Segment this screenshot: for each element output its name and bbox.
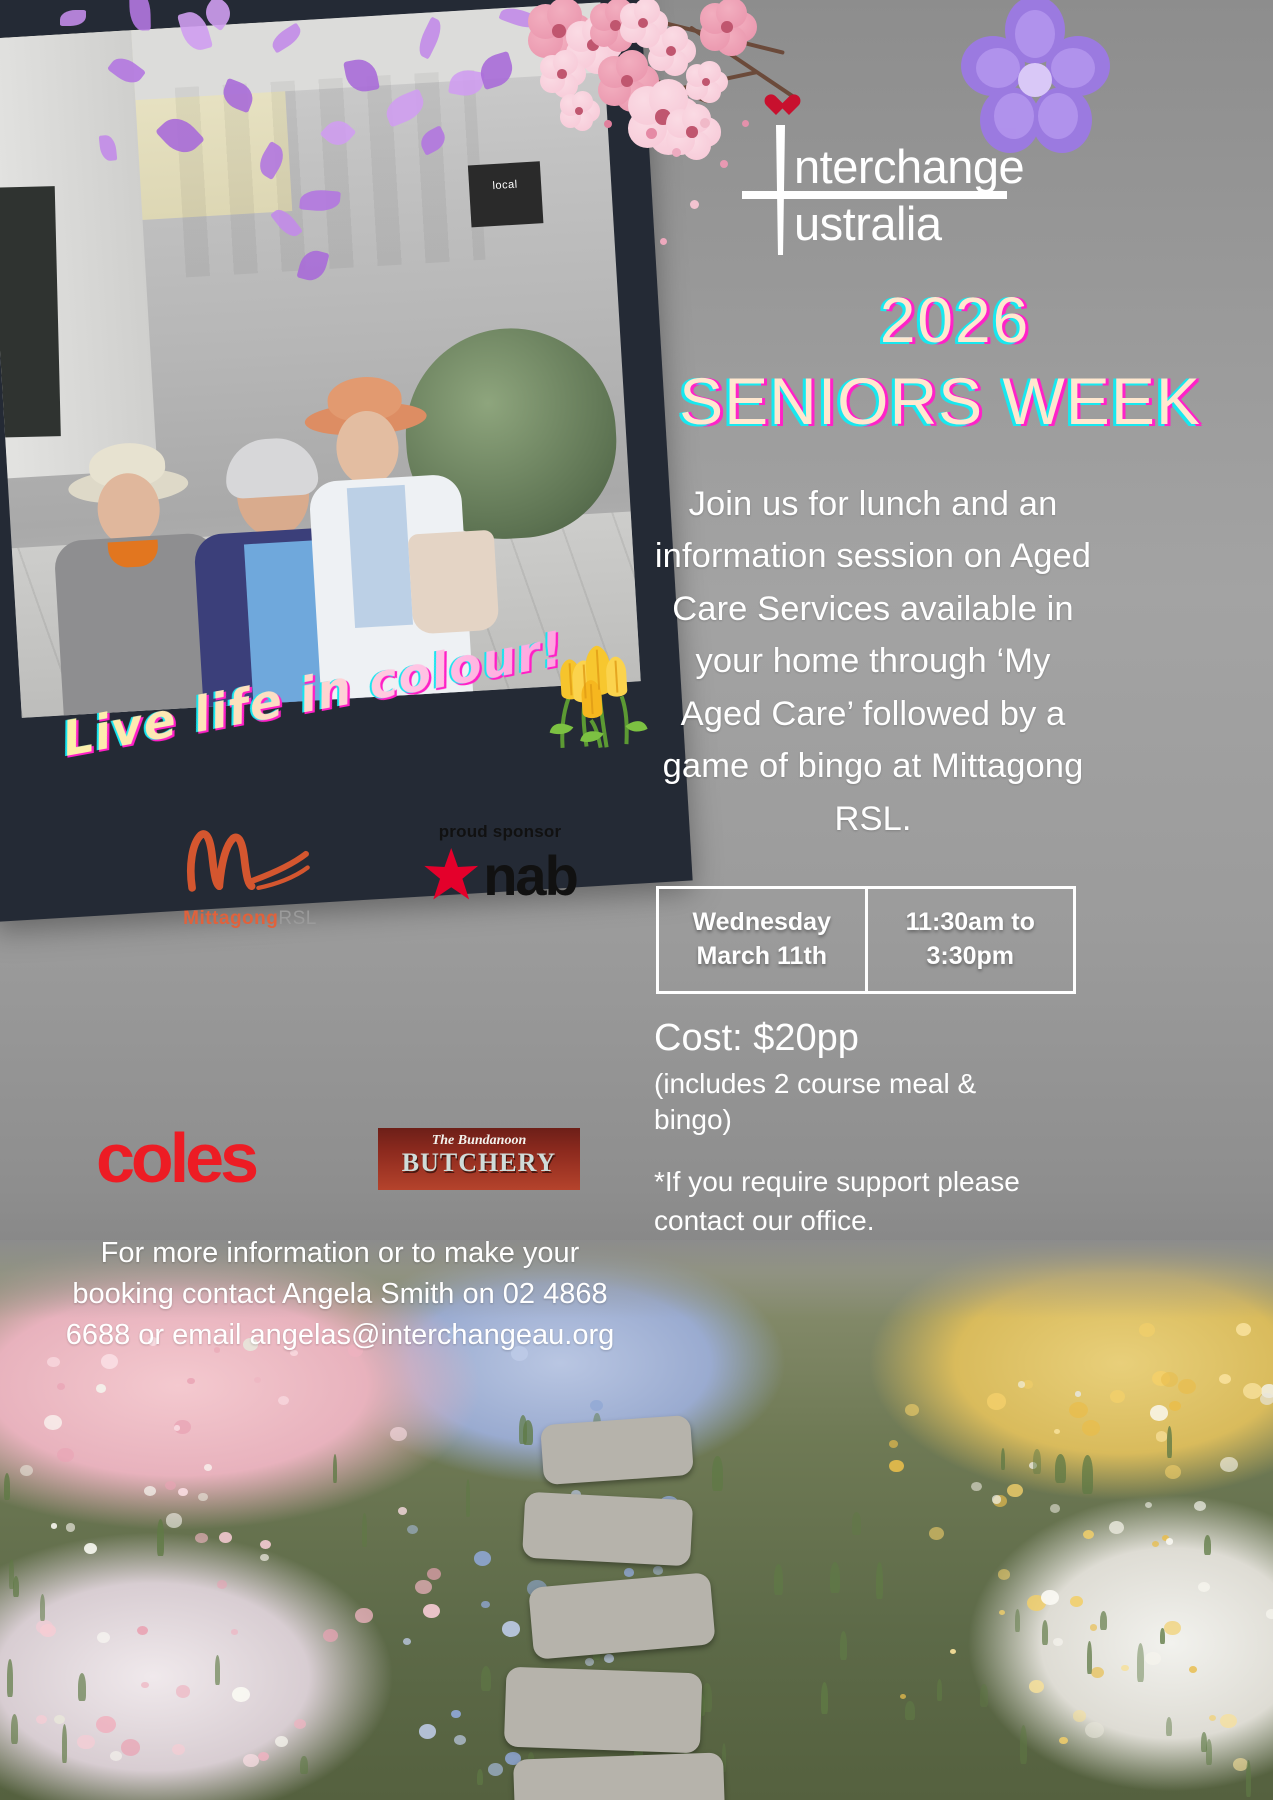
garden-bloom [481, 1666, 491, 1691]
garden-bloom [950, 1649, 956, 1654]
garden-bloom [172, 1744, 185, 1755]
garden-bloom [51, 1523, 57, 1528]
blossom-bud-icon [700, 118, 710, 128]
garden-bloom [96, 1716, 116, 1733]
garden-bloom [1087, 1641, 1092, 1674]
garden-bloom [157, 1519, 164, 1555]
blossom-centre [666, 46, 676, 56]
garden-bloom [165, 1481, 176, 1491]
garden-bloom [1029, 1680, 1044, 1692]
date-cell: Wednesday March 11th [659, 889, 865, 991]
event-description: Join us for lunch and an information ses… [652, 478, 1094, 845]
garden-bloom [254, 1377, 261, 1383]
garden-bloom [1164, 1621, 1181, 1636]
path-slab [540, 1415, 694, 1485]
garden-bloom [47, 1357, 59, 1368]
blossom-bud-icon [690, 200, 699, 209]
garden-bloom [1055, 1454, 1066, 1483]
garden-bloom [905, 1404, 919, 1416]
garden-bloom [1042, 1620, 1048, 1645]
garden-bloom [62, 1724, 67, 1763]
local-shop-sign: local [468, 161, 544, 227]
garden-bloom [992, 1495, 1001, 1503]
garden-bloom [1085, 1722, 1104, 1738]
garden-bloom [937, 1679, 943, 1702]
garden-bloom [1110, 1390, 1125, 1403]
garden-bloom [466, 1479, 470, 1517]
garden-bloom [998, 1569, 1011, 1580]
cherry-blossom-icon [560, 92, 598, 130]
cherry-blossom-icon [700, 0, 754, 54]
rsl-word-light: RSL [278, 908, 316, 929]
garden-bloom [1209, 1715, 1216, 1721]
blossom-bud-icon [604, 120, 612, 128]
garden-bloom [44, 1415, 62, 1430]
garden-bloom [451, 1710, 461, 1718]
garden-bloom [1160, 1628, 1165, 1645]
garden-bloom [323, 1629, 338, 1642]
garden-bloom [78, 1673, 86, 1701]
garden-bloom [1054, 1429, 1060, 1434]
garden-bloom [477, 1769, 483, 1786]
garden-bloom [1018, 1381, 1025, 1387]
garden-bloom [929, 1527, 945, 1540]
garden-bloom [1219, 1374, 1231, 1385]
nab-star-icon [423, 848, 479, 904]
garden-bloom [176, 1685, 190, 1697]
poster-canvas: local [0, 0, 1273, 1800]
path-slab [522, 1492, 693, 1567]
sponsor-bundanoon-butchery: The Bundanoon BUTCHERY [378, 1128, 580, 1190]
sponsor-nab: proud sponsor nab [400, 822, 600, 922]
garden-bloom [987, 1393, 1006, 1410]
garden-bloom [1206, 1739, 1212, 1765]
garden-bloom [300, 1756, 308, 1774]
garden-bloom [1137, 1643, 1144, 1682]
heart-icon [770, 95, 796, 119]
logo-line-2: ustralia [794, 200, 942, 247]
garden-bloom [900, 1694, 906, 1699]
garden-bloom [821, 1682, 828, 1714]
garden-bloom [419, 1724, 437, 1739]
sponsor-coles: coles [96, 1123, 255, 1193]
nab-wordmark: nab [483, 851, 577, 901]
garden-bloom [204, 1464, 212, 1471]
blossom-bud-icon [672, 148, 681, 157]
garden-bloom [1075, 1391, 1081, 1396]
garden-bloom [415, 1580, 432, 1594]
garden-bloom [362, 1513, 367, 1547]
blossom-centre [721, 21, 733, 33]
blossom-bud-icon [742, 120, 749, 127]
garden-bloom [1100, 1611, 1107, 1630]
blossom-bud-icon [660, 238, 667, 245]
garden-bloom [1020, 1725, 1027, 1764]
seniors-photo: local [0, 2, 641, 718]
garden-bloom [121, 1739, 141, 1756]
garden-bloom [1189, 1666, 1197, 1673]
garden-bloom [398, 1507, 407, 1515]
garden-bloom [427, 1568, 441, 1580]
garden-bloom [889, 1460, 903, 1472]
garden-bloom [852, 1512, 861, 1534]
blossom-centre [686, 126, 697, 137]
garden-bloom [57, 1448, 74, 1462]
date-line-2: March 11th [696, 940, 827, 974]
garden-bloom [84, 1543, 97, 1554]
garden-bloom [1266, 1609, 1273, 1619]
garden-bloom [1156, 1431, 1168, 1441]
garden-bloom [1083, 1530, 1094, 1539]
garden-bloom [1139, 1323, 1155, 1337]
garden-bloom [1165, 1465, 1181, 1479]
garden-bloom [178, 1488, 188, 1496]
hair [224, 436, 319, 499]
garden-bloom [258, 1752, 269, 1761]
garden-bloom [1204, 1535, 1211, 1555]
garden-bloom [1091, 1667, 1104, 1678]
garden-bloom [1243, 1383, 1262, 1399]
garden-bloom [1166, 1717, 1172, 1736]
garden-bloom [166, 1513, 183, 1527]
garden-bloom [4, 1473, 10, 1500]
garden-bloom [40, 1624, 55, 1637]
garden-bloom [1161, 1372, 1178, 1387]
chalkboard-sign [0, 186, 61, 437]
blossom-centre [557, 69, 567, 79]
garden-bloom [54, 1715, 65, 1725]
garden-bloom [231, 1629, 238, 1635]
stone-path [491, 1330, 731, 1800]
garden-bloom [1152, 1541, 1159, 1547]
garden-bloom [333, 1454, 337, 1484]
garden-bloom [40, 1594, 46, 1622]
garden-bloom [889, 1440, 898, 1448]
garden-bloom [275, 1736, 288, 1747]
garden-bloom [423, 1604, 440, 1619]
butchery-wordmark: BUTCHERY [378, 1148, 580, 1178]
garden-bloom [1150, 1405, 1168, 1420]
garden-bloom [1145, 1652, 1161, 1665]
garden-bloom [260, 1554, 269, 1562]
garden-bloom [1053, 1638, 1063, 1646]
garden-bloom [219, 1532, 232, 1543]
cherry-blossom-icon [540, 52, 584, 96]
garden-bloom [1082, 1455, 1093, 1493]
handbag [408, 530, 500, 635]
nab-lockup: nab [400, 848, 600, 904]
garden-bloom [355, 1608, 372, 1623]
garden-bloom [876, 1562, 883, 1599]
garden-bloom [1001, 1448, 1005, 1470]
garden-bloom [1069, 1402, 1088, 1418]
date-line-1: Wednesday [693, 906, 831, 940]
support-note: *If you require support please contact o… [654, 1163, 1084, 1240]
garden-bloom [1260, 1393, 1273, 1406]
garden-bloom [474, 1551, 491, 1566]
garden-bloom [260, 1540, 271, 1549]
garden-bloom [97, 1632, 110, 1643]
logo-vertical-bar [776, 125, 785, 255]
event-heading: SENIORS WEEK [600, 368, 1273, 434]
garden-bloom [198, 1493, 208, 1501]
garden-bloom [905, 1701, 915, 1720]
awning-stripes [175, 70, 486, 277]
butchery-top-line: The Bundanoon [378, 1133, 580, 1148]
path-slab [513, 1752, 726, 1800]
garden-bloom [830, 1562, 840, 1594]
rsl-brushstroke-icon [170, 820, 340, 898]
garden-bloom [1082, 1420, 1100, 1435]
garden-bloom [66, 1523, 76, 1531]
garden-bloom [1070, 1596, 1083, 1607]
rsl-wordmark: MittagongRSL [150, 908, 350, 930]
garden-bloom [1090, 1624, 1098, 1630]
garden-bloom [144, 1486, 156, 1496]
garden-bloom [1169, 1401, 1181, 1411]
garden-bloom [1198, 1582, 1210, 1592]
cherry-blossom-icon [686, 62, 726, 102]
garden-bloom [980, 1684, 988, 1707]
garden-bloom [1166, 1538, 1173, 1544]
garden-bloom [774, 1564, 783, 1595]
garden-bloom [999, 1610, 1005, 1615]
time-line-1: 11:30am to [906, 906, 1035, 940]
cost-note: (includes 2 course meal & bingo) [654, 1066, 1054, 1139]
garden-bloom [9, 1559, 15, 1589]
garden-bloom [1220, 1714, 1236, 1728]
time-line-2: 3:30pm [926, 940, 1014, 974]
garden-bloom [1033, 1449, 1041, 1474]
garden-bloom [1015, 1609, 1020, 1632]
garden-bloom [1007, 1484, 1023, 1497]
garden-bloom [454, 1735, 466, 1745]
garden-bloom [243, 1754, 258, 1767]
garden-bloom [11, 1714, 19, 1744]
garden-bloom [1041, 1590, 1059, 1605]
blossom-centre [610, 20, 621, 31]
garden-bloom [1121, 1665, 1129, 1672]
garden-bloom [96, 1384, 106, 1393]
garden-bloom [294, 1719, 306, 1729]
garden-bloom [7, 1659, 13, 1696]
garden-bloom [36, 1715, 47, 1724]
garden-bloom [403, 1638, 411, 1645]
garden-bloom [1145, 1502, 1152, 1508]
garden-bloom [77, 1735, 94, 1750]
garden-bloom [1059, 1737, 1068, 1745]
garden-bloom [278, 1396, 289, 1405]
cherry-blossom-icon [620, 0, 666, 46]
blossom-bud-icon [646, 128, 657, 139]
garden-bloom [141, 1682, 148, 1688]
garden-bloom [1194, 1501, 1206, 1511]
garden-bloom [57, 1383, 65, 1390]
cost-headline: Cost: $20pp [654, 1018, 1094, 1060]
garden-bloom [1073, 1710, 1087, 1722]
blossom-bud-icon [720, 160, 728, 168]
garden-bloom [1167, 1426, 1172, 1458]
logo-line-1: nterchange [794, 143, 1024, 190]
garden-bloom [1220, 1457, 1238, 1472]
garden-bloom [390, 1427, 407, 1441]
garden-bloom [1178, 1379, 1196, 1394]
interchange-australia-logo: nterchange ustralia [760, 95, 1040, 260]
garden-bloom [971, 1482, 982, 1491]
tulips-icon [534, 626, 661, 753]
garden-bloom [1236, 1323, 1251, 1336]
garden-bloom [137, 1626, 148, 1635]
date-time-box: Wednesday March 11th 11:30am to 3:30pm [656, 886, 1076, 994]
contact-details: For more information or to make your boo… [60, 1233, 620, 1357]
garden-bloom [1246, 1760, 1251, 1797]
nab-caption: proud sponsor [400, 822, 600, 842]
garden-bloom [1050, 1504, 1060, 1513]
garden-bloom [187, 1378, 194, 1384]
garden-bloom [481, 1601, 490, 1608]
blossom-centre [638, 18, 648, 28]
year-heading: 2026 [655, 288, 1255, 352]
garden-bloom [232, 1687, 250, 1702]
garden-bloom [110, 1751, 122, 1761]
path-slab [504, 1667, 703, 1754]
sponsor-mittagong-rsl: MittagongRSL [150, 820, 350, 930]
path-slab [528, 1572, 716, 1660]
blossom-centre [552, 24, 566, 38]
garden-bloom [217, 1580, 227, 1589]
garden-bloom [215, 1655, 220, 1685]
garden-bloom [407, 1525, 418, 1534]
garden-bloom [20, 1465, 33, 1476]
garden-bloom [195, 1533, 208, 1544]
rsl-word-bold: Mittagong [183, 908, 278, 929]
striped-shirt [347, 485, 413, 628]
time-cell: 11:30am to 3:30pm [865, 889, 1074, 991]
garden-bloom [1109, 1521, 1124, 1534]
garden-bloom [840, 1631, 847, 1660]
garden-bloom [174, 1425, 180, 1430]
